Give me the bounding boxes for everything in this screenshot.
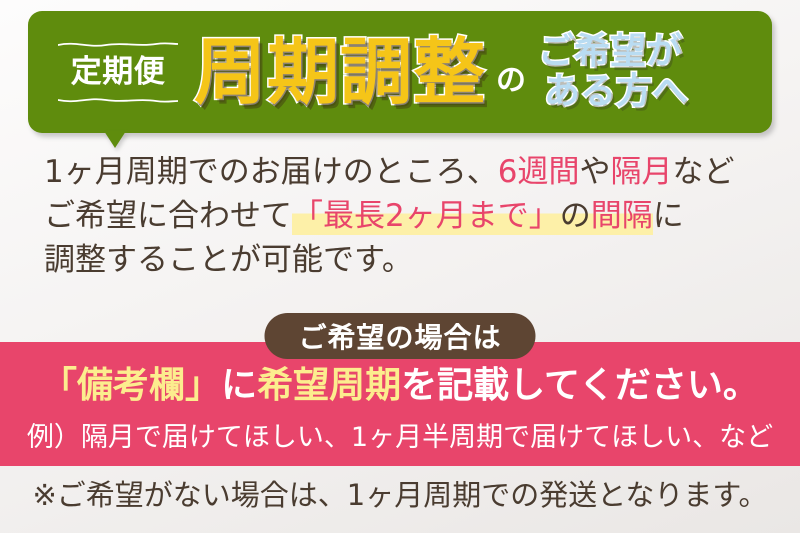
promotional-banner: 定期便 周期調整 の ご希望が ある方へ 1ヶ月周期でのお届けのところ、6週間や… (0, 0, 800, 533)
pink-main-accent-cycle: 希望周期 (257, 365, 401, 406)
subscription-badge-label: 定期便 (54, 57, 182, 88)
body-line2-part1: ご希望に合わせて (44, 198, 292, 234)
body-line1-part3: など (672, 154, 734, 190)
body-line1-part2: や (579, 154, 610, 190)
body-line1-accent-6weeks: 6週間 (498, 154, 580, 190)
main-title: 周期調整 (194, 36, 486, 108)
body-line2-highlight-interval: 間隔 (591, 198, 653, 235)
title-particle: の (496, 66, 526, 96)
wave-divider-bottom-icon (58, 97, 178, 104)
header-subtext-line1: ご希望が (538, 32, 688, 72)
body-paragraph: 1ヶ月周期でのお届けのところ、6週間や隔月など ご希望に合わせて「最長2ヶ月まで… (44, 150, 774, 282)
wave-divider-top-icon (58, 41, 178, 48)
body-line2-highlight-plain: の (560, 198, 591, 235)
header-bubble: 定期便 周期調整 の ご希望が ある方へ (28, 11, 772, 133)
header-bubble-wrap: 定期便 周期調整 の ご希望が ある方へ (28, 11, 772, 133)
body-line1-accent-bimonthly: 隔月 (610, 154, 672, 190)
footer-note: ※ご希望がない場合は、1ヶ月周期での発送となります。 (0, 480, 800, 512)
body-line-2: ご希望に合わせて「最長2ヶ月まで」の間隔に (44, 194, 774, 238)
pink-example-text: 例）隔月で届けてほしい、1ヶ月半周期で届けてほしい、など (0, 423, 800, 453)
header-subtext: ご希望が ある方へ (538, 32, 688, 113)
pink-main-plain1: に (221, 365, 257, 406)
body-line-3: 調整することが可能です。 (44, 238, 774, 282)
header-subtext-line2: ある方へ (538, 72, 688, 112)
body-line-1: 1ヶ月周期でのお届けのところ、6週間や隔月など (44, 150, 774, 194)
speech-bubble-tail-icon (104, 131, 126, 148)
pink-main-instruction: 「備考欄」に希望周期を記載してください。 (0, 366, 800, 406)
body-line1-part1: 1ヶ月周期でのお届けのところ、 (44, 154, 498, 190)
body-line2-highlight-max2months: 「最長2ヶ月まで」 (292, 198, 560, 235)
request-case-badge: ご希望の場合は (264, 313, 535, 359)
subscription-badge: 定期便 (54, 41, 182, 104)
pink-main-plain2: を記載してください。 (401, 365, 759, 406)
pink-main-accent-remarks: 「備考欄」 (41, 365, 221, 406)
body-line2-part2: に (653, 198, 684, 234)
header-content: 定期便 周期調整 の ご希望が ある方へ (28, 11, 772, 133)
